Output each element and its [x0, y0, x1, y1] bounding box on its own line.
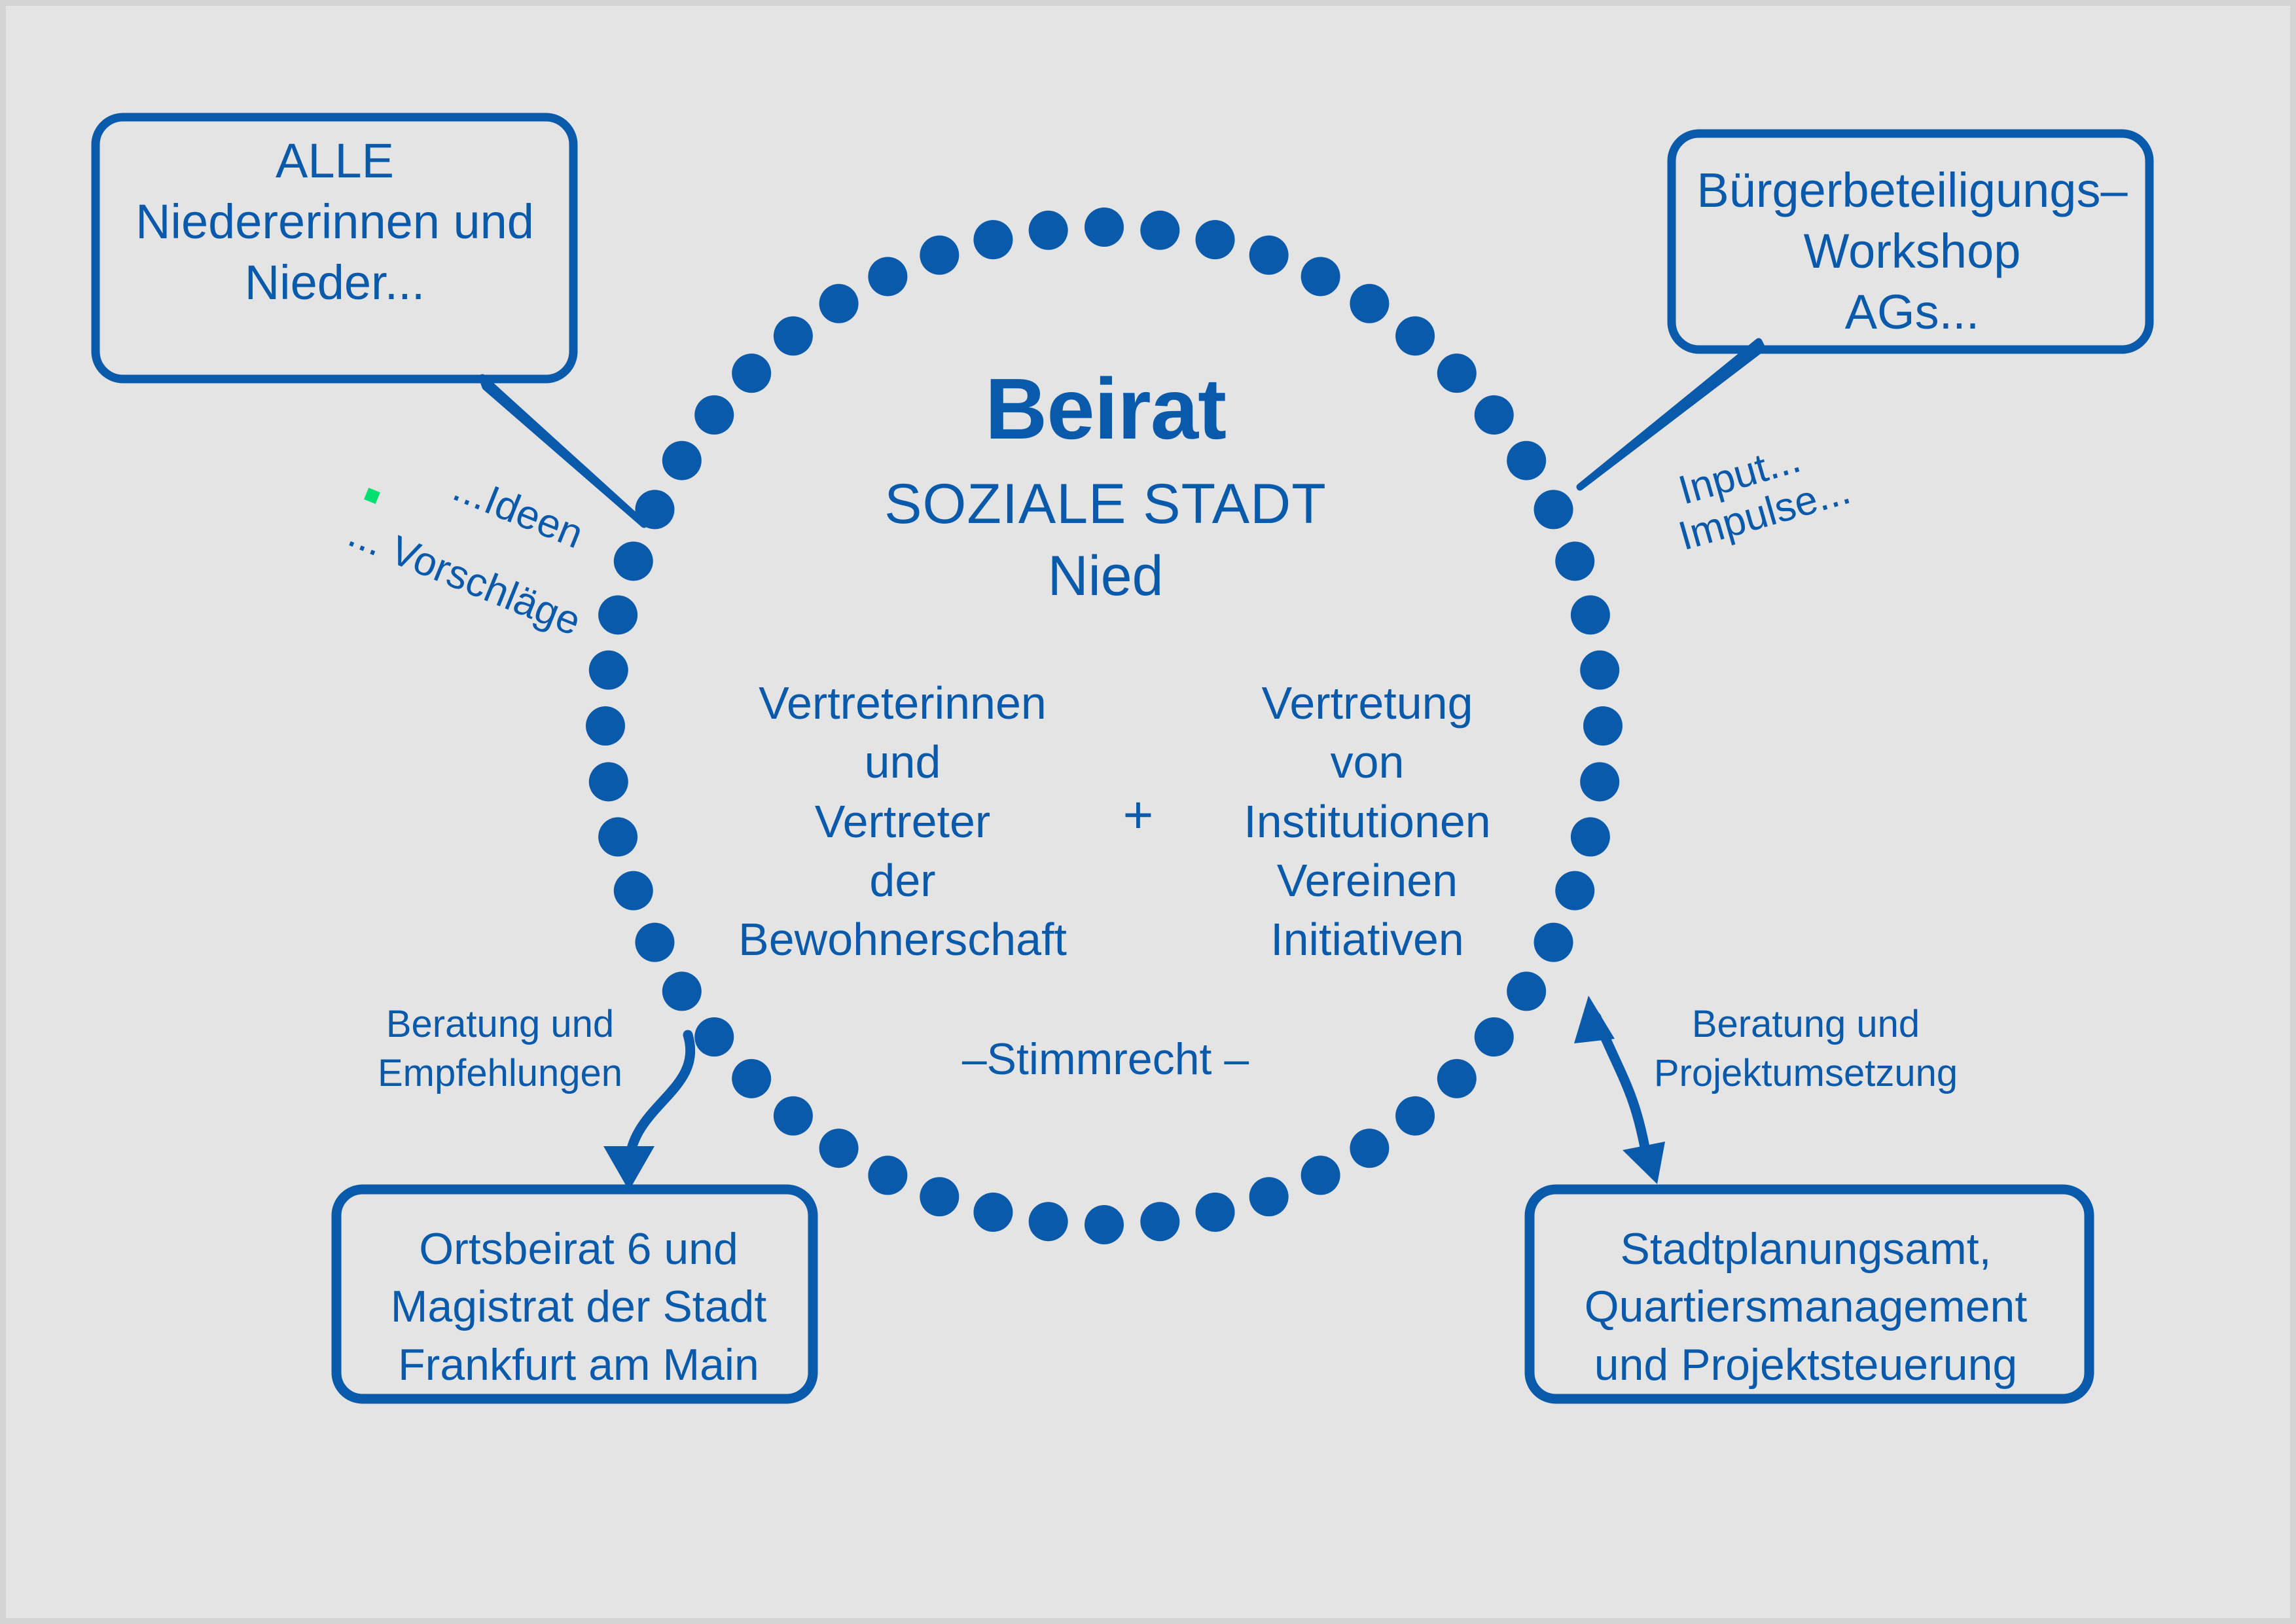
annotation-beratung-projektumsetzung: Beratung undProjektumsetzung	[1642, 1000, 1969, 1098]
ring-dot	[1301, 1156, 1340, 1195]
ring-dot	[1475, 1017, 1514, 1056]
ring-dot	[662, 441, 702, 480]
page-title: Beirat	[778, 359, 1433, 458]
ring-dot	[973, 1193, 1013, 1232]
ring-dot	[1140, 1202, 1179, 1241]
ring-dot	[1196, 220, 1235, 259]
ring-dot	[589, 651, 628, 690]
ring-dot	[868, 257, 907, 296]
ring-dot	[920, 236, 959, 275]
ring-dot	[635, 490, 674, 529]
ring-dot	[774, 316, 813, 355]
location-label: Nied	[778, 544, 1433, 609]
ring-dot	[694, 1017, 734, 1056]
box-left-label: Ortsbeirat 6 undMagistrat der StadtFrank…	[346, 1220, 811, 1394]
box-right-label: Stadtplanungsamt,Quartiersmanagementund …	[1541, 1220, 2071, 1394]
ring-dot	[1395, 316, 1435, 355]
ring-dot	[1580, 762, 1619, 801]
ring-dot	[598, 595, 637, 634]
ring-dot	[1029, 211, 1068, 250]
speech-bubble-left-label: ALLENiedererinnen undNieder...	[91, 130, 579, 314]
ring-dot	[614, 541, 653, 581]
ring-dot	[614, 871, 653, 911]
plus-icon: +	[1092, 785, 1184, 845]
ring-dot	[1571, 818, 1610, 857]
membership-column-residents: VertreterinnenundVertreterderBewohnersch…	[719, 674, 1086, 969]
ring-dot	[589, 762, 628, 801]
ring-dot	[1085, 208, 1124, 247]
ring-dot	[1350, 284, 1389, 323]
membership-column-institutions: VertretungvonInstitutionenVereinenInitia…	[1184, 674, 1551, 969]
ring-dot	[662, 971, 702, 1011]
ring-dot	[1475, 395, 1514, 435]
voting-rights-note: –Stimmrecht –	[909, 1034, 1302, 1085]
annotation-beratung-empfehlungen: Beratung undEmpfehlungen	[359, 1000, 641, 1098]
ring-dot	[1085, 1205, 1124, 1244]
ring-dot	[819, 284, 859, 323]
ring-dot	[1583, 706, 1623, 746]
ring-dot	[1507, 971, 1546, 1011]
ring-dot	[920, 1177, 959, 1216]
ring-dot	[1350, 1128, 1389, 1168]
ring-dot	[774, 1096, 813, 1136]
ring-dot	[973, 220, 1013, 259]
ring-dot	[1507, 441, 1546, 480]
ring-dot	[1571, 595, 1610, 634]
ring-dot	[598, 818, 637, 857]
ring-dot	[1029, 1202, 1068, 1241]
ring-dot	[1580, 651, 1619, 690]
ring-dot	[694, 395, 734, 435]
ring-dot	[1140, 211, 1179, 250]
ring-dot	[1395, 1096, 1435, 1136]
ring-dot	[1437, 353, 1477, 393]
ring-dot	[1534, 490, 1573, 529]
diagram-canvas: ALLENiedererinnen undNieder... Bürgerbet…	[0, 0, 2296, 1624]
ring-dot	[1196, 1193, 1235, 1232]
ring-dot	[819, 1128, 859, 1168]
ring-dot	[732, 353, 771, 393]
green-dot-marker	[364, 488, 380, 504]
program-subtitle: SOZIALE STADT	[778, 472, 1433, 537]
ring-dot	[1555, 871, 1594, 911]
speech-bubble-right-label: Bürgerbeteiligungs–WorkshopAGs...	[1668, 160, 2156, 343]
ring-dot	[1437, 1059, 1477, 1098]
ring-dot	[1249, 236, 1289, 275]
ring-dot	[635, 923, 674, 962]
ring-dot	[586, 706, 625, 746]
ring-dot	[1555, 541, 1594, 581]
ring-dot	[1301, 257, 1340, 296]
ring-dot	[868, 1156, 907, 1195]
ring-dot	[732, 1059, 771, 1098]
annotation-ideen: ...Ideen	[446, 464, 589, 558]
ring-dot	[1249, 1177, 1289, 1216]
